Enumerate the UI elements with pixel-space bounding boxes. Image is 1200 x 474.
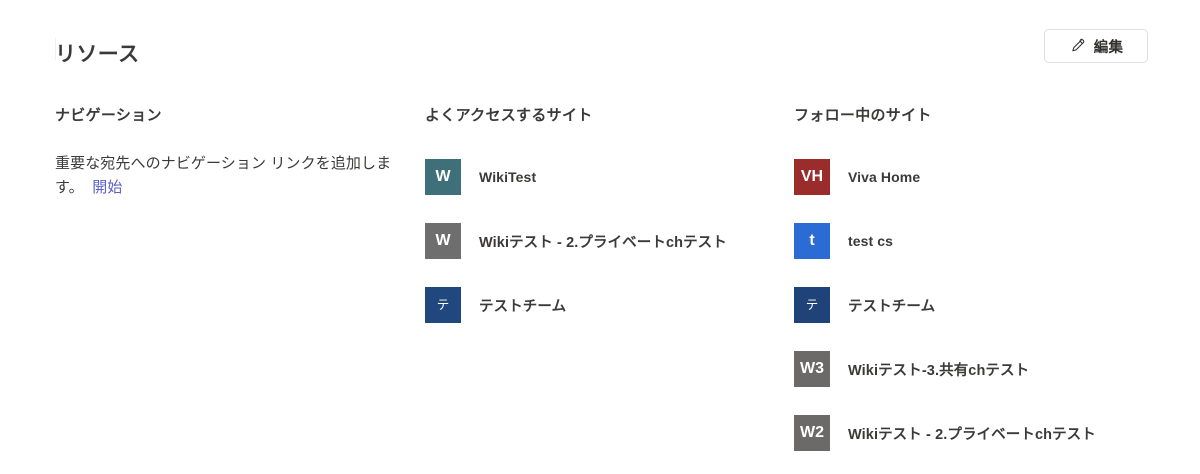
column-navigation: ナビゲーション 重要な宛先へのナビゲーション リンクを追加します。 開始: [55, 108, 405, 201]
site-name-label: WikiTest: [479, 169, 536, 185]
site-avatar-tile: W3: [794, 351, 830, 387]
column-frequent-sites-heading: よくアクセスするサイト: [425, 108, 775, 123]
edit-button-label: 編集: [1094, 36, 1124, 57]
page-title: リソース: [55, 44, 140, 65]
site-name-label: テストチーム: [848, 295, 935, 316]
resources-web-part: リソース 編集 ナビゲーション 重要な宛先へのナビゲーション リンクを追加します…: [0, 0, 1200, 474]
site-list-item[interactable]: W2Wikiテスト - 2.プライベートchテスト: [794, 401, 1154, 465]
site-name-label: Wikiテスト-3.共有chテスト: [848, 359, 1029, 380]
column-navigation-body: 重要な宛先へのナビゲーション リンクを追加します。 開始: [55, 152, 395, 201]
site-name-label: test cs: [848, 233, 893, 249]
site-name-label: Wikiテスト - 2.プライベートchテスト: [479, 231, 727, 252]
site-list-item[interactable]: テテストチーム: [794, 273, 1154, 337]
site-list-item[interactable]: ttest cs: [794, 209, 1154, 273]
column-following-sites-heading: フォロー中のサイト: [794, 108, 1154, 123]
site-avatar-tile: W: [425, 223, 461, 259]
column-navigation-heading: ナビゲーション: [55, 108, 405, 123]
site-list-item[interactable]: W3Wikiテスト-3.共有chテスト: [794, 337, 1154, 401]
site-avatar-tile: テ: [425, 287, 461, 323]
edit-button[interactable]: 編集: [1044, 29, 1148, 63]
site-avatar-tile: テ: [794, 287, 830, 323]
site-list-item[interactable]: VHViva Home: [794, 145, 1154, 209]
column-frequent-sites: よくアクセスするサイト WWikiTestWWikiテスト - 2.プライベート…: [425, 108, 775, 337]
site-name-label: テストチーム: [479, 295, 566, 316]
site-avatar-tile: W: [425, 159, 461, 195]
site-avatar-tile: VH: [794, 159, 830, 195]
frequent-sites-list: WWikiTestWWikiテスト - 2.プライベートchテストテテストチーム: [425, 145, 775, 337]
site-list-item[interactable]: WWikiTest: [425, 145, 775, 209]
navigation-get-started-link[interactable]: 開始: [92, 179, 122, 196]
site-list-item[interactable]: テテストチーム: [425, 273, 775, 337]
site-name-label: Wikiテスト - 2.プライベートchテスト: [848, 423, 1096, 444]
site-name-label: Viva Home: [848, 169, 920, 185]
pencil-icon: [1069, 38, 1085, 54]
site-avatar-tile: t: [794, 223, 830, 259]
site-avatar-tile: W2: [794, 415, 830, 451]
site-list-item[interactable]: WWikiテスト - 2.プライベートchテスト: [425, 209, 775, 273]
following-sites-list: VHViva Homettest csテテストチームW3Wikiテスト-3.共有…: [794, 145, 1154, 465]
column-following-sites: フォロー中のサイト VHViva Homettest csテテストチームW3Wi…: [794, 108, 1154, 465]
